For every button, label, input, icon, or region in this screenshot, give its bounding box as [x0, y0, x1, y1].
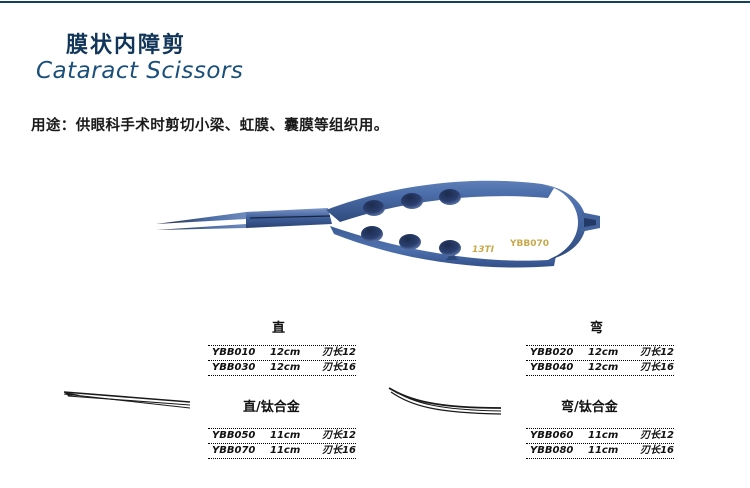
- cell-blade: 刃长12: [314, 346, 356, 360]
- spec-table-straight: YBB010 12cm 刃长12 YBB030 12cm 刃长16: [208, 345, 356, 376]
- table-row: YBB060 11cm 刃长12: [526, 429, 674, 444]
- header-top-rule: [0, 0, 750, 3]
- cell-code: YBB070: [208, 444, 270, 458]
- cell-blade: 刃长16: [314, 444, 356, 458]
- cell-blade: 刃长12: [632, 429, 674, 443]
- engraving-code: YBB070: [509, 239, 549, 249]
- spec-table-curved-titanium: YBB060 11cm 刃长12 YBB080 11cm 刃长16: [526, 428, 674, 459]
- cell-code: YBB080: [526, 444, 588, 458]
- section-title-straight-titanium: 直/钛合金: [243, 396, 300, 415]
- table-row: YBB030 12cm 刃长16: [208, 361, 356, 375]
- cell-code: YBB020: [526, 346, 588, 360]
- cell-length: 12cm: [588, 361, 632, 375]
- cell-length: 11cm: [270, 444, 314, 458]
- cell-length: 11cm: [270, 429, 314, 443]
- cell-code: YBB040: [526, 361, 588, 375]
- table-row: YBB080 11cm 刃长16: [526, 444, 674, 458]
- table-row: YBB040 12cm 刃长16: [526, 361, 674, 375]
- table-row: YBB020 12cm 刃长12: [526, 346, 674, 361]
- cell-length: 12cm: [270, 361, 314, 375]
- table-row: YBB070 11cm 刃长16: [208, 444, 356, 458]
- cell-length: 12cm: [270, 346, 314, 360]
- page-title-chinese: 膜状内障剪: [66, 27, 186, 59]
- cell-code: YBB010: [208, 346, 270, 360]
- spec-table-curved: YBB020 12cm 刃长12 YBB040 12cm 刃长16: [526, 345, 674, 376]
- catalog-page: 膜状内障剪 Cataract Scissors 用途：供眼科手术时剪切小梁、虹膜…: [0, 0, 750, 488]
- cell-code: YBB060: [526, 429, 588, 443]
- cell-code: YBB050: [208, 429, 270, 443]
- table-row: YBB010 12cm 刃长12: [208, 346, 356, 361]
- cell-code: YBB030: [208, 361, 270, 375]
- engraving-logo: 13TI: [472, 245, 495, 255]
- cell-blade: 刃长16: [632, 444, 674, 458]
- cell-blade: 刃长16: [314, 361, 356, 375]
- section-title-curved: 弯: [590, 317, 603, 336]
- section-title-straight: 直: [272, 317, 285, 336]
- page-title-english: Cataract Scissors: [36, 58, 243, 84]
- cell-blade: 刃长12: [632, 346, 674, 360]
- straight-tip-diagram: [58, 378, 198, 418]
- table-row: YBB050 11cm 刃长12: [208, 429, 356, 444]
- cell-length: 11cm: [588, 429, 632, 443]
- usage-description: 用途：供眼科手术时剪切小梁、虹膜、囊膜等组织用。: [31, 114, 389, 135]
- cell-length: 12cm: [588, 346, 632, 360]
- curved-tip-diagram: [383, 378, 508, 423]
- cell-length: 11cm: [588, 444, 632, 458]
- product-photo: 13TI YBB070: [150, 172, 600, 277]
- cell-blade: 刃长12: [314, 429, 356, 443]
- section-title-curved-titanium: 弯/钛合金: [561, 396, 618, 415]
- spec-table-straight-titanium: YBB050 11cm 刃长12 YBB070 11cm 刃长16: [208, 428, 356, 459]
- cell-blade: 刃长16: [632, 361, 674, 375]
